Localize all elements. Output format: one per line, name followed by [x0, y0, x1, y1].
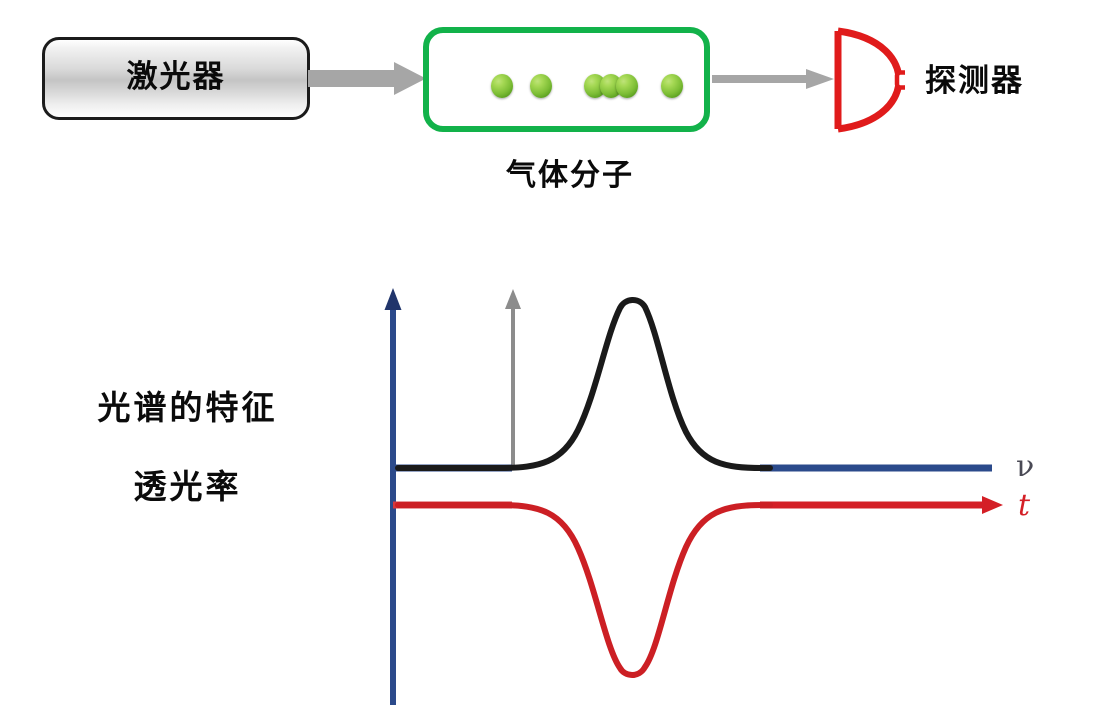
gas-molecule-icon	[530, 74, 552, 98]
photodetector-icon[interactable]	[831, 27, 905, 133]
t-axis	[393, 496, 1003, 514]
laser-source-box[interactable]: 激光器	[42, 37, 310, 120]
gas-molecule-icon	[491, 74, 513, 98]
t-axis-label: t	[1018, 491, 1030, 521]
plot-caption-line-2: 透光率	[55, 460, 320, 508]
diagram-canvas: 激光器 气体分子 探测器 光谱的特征 透光率	[0, 0, 1112, 719]
gas-cell-box[interactable]	[423, 27, 710, 132]
laser-source-label: 激光器	[127, 62, 226, 93]
cell-to-detector-beam-arrow	[712, 69, 834, 89]
marker-arrow-icon	[505, 289, 521, 468]
laser-to-cell-beam-arrow	[308, 62, 426, 95]
detector-label: 探测器	[925, 55, 1024, 100]
vertical-axis	[385, 288, 402, 705]
gas-molecule-icon	[661, 74, 683, 98]
transmittance-curve	[398, 505, 770, 675]
absorption-curve	[398, 300, 770, 468]
nu-axis-label: ν	[1016, 452, 1034, 482]
gas-molecule-icon	[616, 74, 638, 98]
plot-caption-line-1: 光谱的特征	[55, 381, 320, 429]
gas-cell-label: 气体分子	[470, 150, 670, 194]
